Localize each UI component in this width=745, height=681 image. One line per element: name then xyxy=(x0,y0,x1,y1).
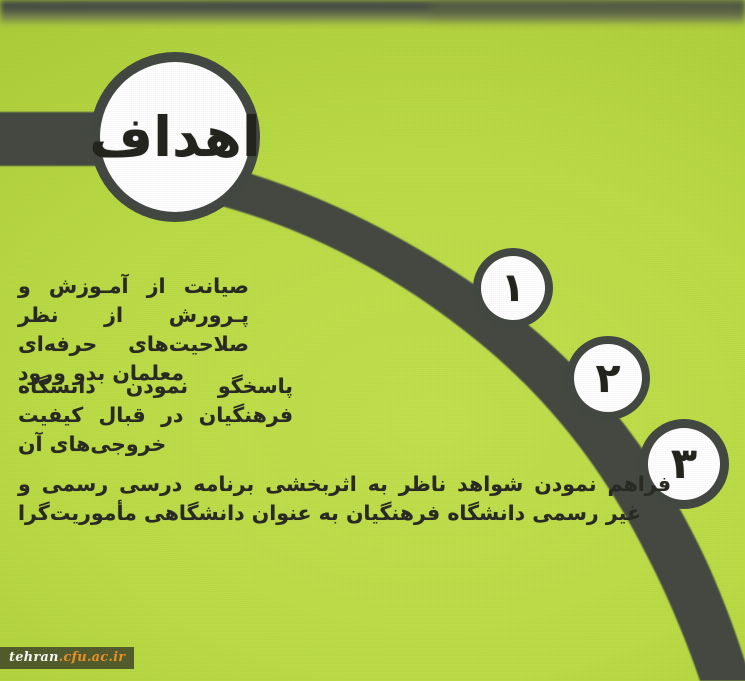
step-bubble-2-fill xyxy=(574,344,642,412)
goal-text-2: پاسخگو نمودن دانشگاه فرهنگیان در قبال کی… xyxy=(18,372,293,459)
step-bubble-1-fill xyxy=(481,256,545,320)
poster-canvas: اهداف ۱ ۲ ۳ صیانت از آمـوزش و پـرورش از … xyxy=(0,0,745,681)
title-bubble-fill xyxy=(100,62,250,212)
site-watermark: tehran.cfu.ac.ir xyxy=(0,647,134,669)
watermark-secondary: .cfu.ac.ir xyxy=(59,650,126,665)
goal-text-1: صیانت از آمـوزش و پـرورش از نظر صلاحیت‌ه… xyxy=(18,272,249,388)
goal-text-3: فراهم نمودن شواهد ناظر به اثربخشی برنامه… xyxy=(18,470,671,528)
watermark-primary: tehran xyxy=(9,650,59,665)
